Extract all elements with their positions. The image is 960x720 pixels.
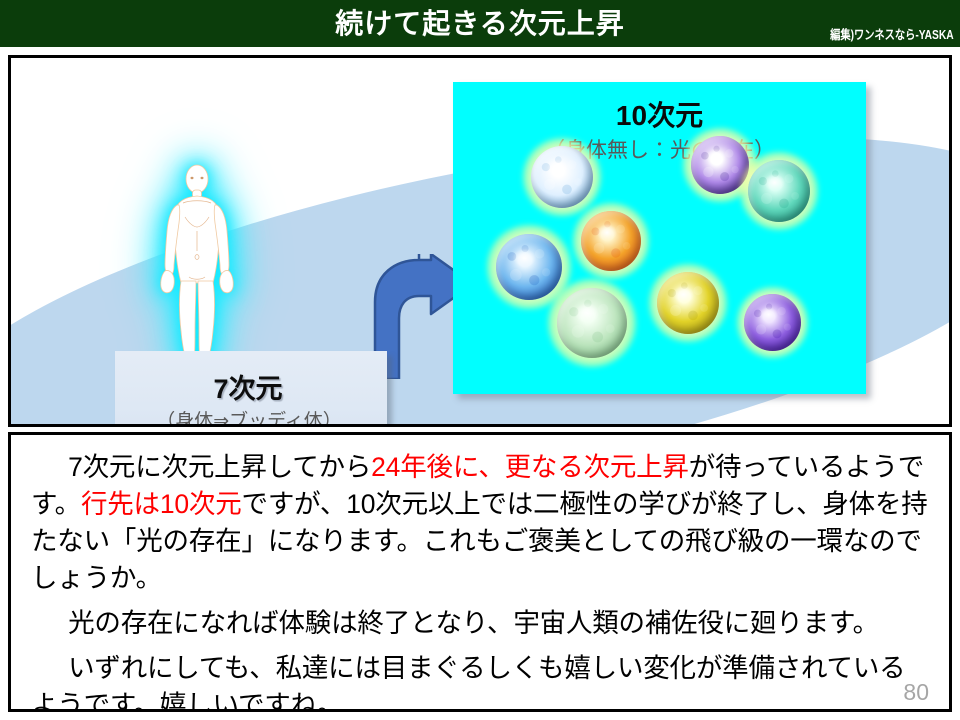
label-7th-dimension: 7次元 （身体⇒ブッディ体） (115, 351, 387, 427)
orb-texture (496, 234, 562, 300)
body-text-panel: 7次元に次元上昇してから24年後に、更なる次元上昇が待っているようです。行先は1… (8, 432, 952, 712)
yellow-energy-orb-icon (657, 272, 719, 334)
orange-fire-orb-icon (581, 211, 641, 271)
blue-lightning-orb-icon (496, 234, 562, 300)
orb-texture (744, 294, 801, 351)
label-10d-subtitle: （身体無し：光の存在） (453, 134, 866, 164)
body-paragraph: いずれにしても、私達には目まぐるしくも嬉しい変化が準備されているようです。嬉しい… (31, 650, 931, 712)
green-bubble-orb-icon (557, 288, 627, 358)
text-run: いずれにしても、私達には目まぐるしくも嬉しい変化が準備されているようです。嬉しい… (31, 653, 905, 712)
text-run: 7次元に次元上昇してから (68, 452, 371, 482)
orb-core (744, 294, 801, 351)
body-paragraph: 光の存在になれば体験は終了となり、宇宙人類の補佐役に廻ります。 (31, 605, 931, 642)
body-text: 7次元に次元上昇してから24年後に、更なる次元上昇が待っているようです。行先は1… (31, 449, 931, 712)
orb-core (557, 288, 627, 358)
orb-core (581, 211, 641, 271)
label-10d-title: 10次元 (453, 94, 866, 134)
page-title: 続けて起きる次元上昇 (0, 0, 960, 47)
orb-core (748, 160, 810, 222)
panel-10th-dimension: 10次元 （身体無し：光の存在） (453, 82, 866, 394)
slide-header-bar: 続けて起きる次元上昇 編集)ワンネスなら-YASKA (0, 0, 960, 47)
orb-highlight (597, 224, 617, 241)
orb-core (496, 234, 562, 300)
highlighted-text-run: 24年後に、更なる次元上昇 (371, 452, 689, 482)
orb-highlight (673, 286, 694, 303)
label-7d-title: 7次元 (115, 367, 381, 406)
orb-core (531, 146, 593, 208)
text-run: 光の存在になれば体験は終了となり、宇宙人類の補佐役に廻ります。 (68, 608, 879, 638)
human-figure (157, 161, 237, 381)
orb-highlight (706, 149, 726, 165)
page-number: 80 (903, 679, 929, 706)
purple-crystal-orb-icon (744, 294, 801, 351)
orb-texture (531, 146, 593, 208)
orb-texture (657, 272, 719, 334)
figure-panel: 7次元 （身体⇒ブッディ体） 10次元 （身体無し：光の存在） (8, 55, 952, 427)
orb-core (657, 272, 719, 334)
highlighted-text-run: 行先は10次元 (81, 489, 242, 519)
orb-highlight (513, 249, 535, 267)
orb-highlight (547, 160, 568, 177)
header-credit-label: 編集)ワンネスなら-YASKA (830, 24, 954, 43)
glowing-human-body-icon (157, 161, 237, 381)
body-paragraph: 7次元に次元上昇してから24年後に、更なる次元上昇が待っているようです。行先は1… (31, 449, 931, 597)
white-radiant-orb-icon (531, 146, 593, 208)
orb-texture (581, 211, 641, 271)
orb-highlight (575, 303, 599, 323)
orb-highlight (764, 174, 785, 191)
orb-texture (748, 160, 810, 222)
orb-texture (557, 288, 627, 358)
label-7d-subtitle: （身体⇒ブッディ体） (115, 406, 383, 427)
teal-crystal-orb-icon (748, 160, 810, 222)
slide-root: 続けて起きる次元上昇 編集)ワンネスなら-YASKA (0, 0, 960, 720)
